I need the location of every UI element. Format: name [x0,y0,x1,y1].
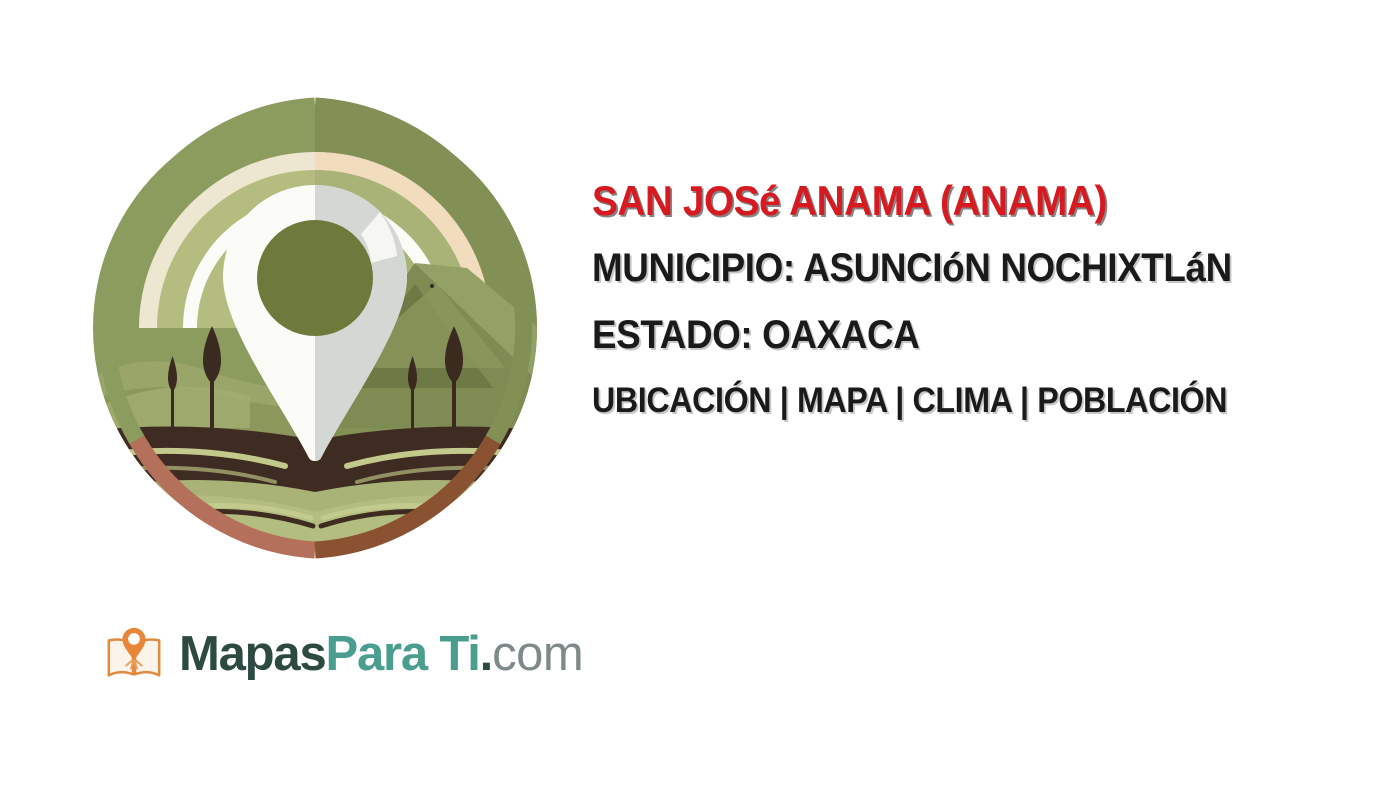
place-info-block: SAN JOSé ANAMA (ANAMA) MUNICIPIO: ASUNCI… [592,180,1382,418]
site-logo[interactable]: Mapas Para Ti . com [103,618,583,690]
brand-part-dot: . [480,630,492,679]
page-title: SAN JOSé ANAMA (ANAMA) [592,180,1319,222]
brand-part-parati: Para Ti [326,630,480,679]
brand-part-mapas: Mapas [179,630,326,679]
badge-scene [75,88,555,568]
badge-speck [430,284,434,288]
open-book-pin-icon [103,623,165,685]
section-links-line[interactable]: UBICACIÓN | MAPA | CLIMA | POBLACIÓN [592,383,1319,418]
location-badge-emblem [75,88,555,568]
brand-part-com: com [492,630,583,679]
municipio-line: MUNICIPIO: ASUNCIóN NOCHIXTLáN [592,248,1319,288]
brand-wordmark: Mapas Para Ti . com [179,630,583,679]
badge-meadow [75,480,555,568]
page-root: SAN JOSé ANAMA (ANAMA) MUNICIPIO: ASUNCI… [0,0,1400,786]
estado-line: ESTADO: OAXACA [592,315,1319,355]
